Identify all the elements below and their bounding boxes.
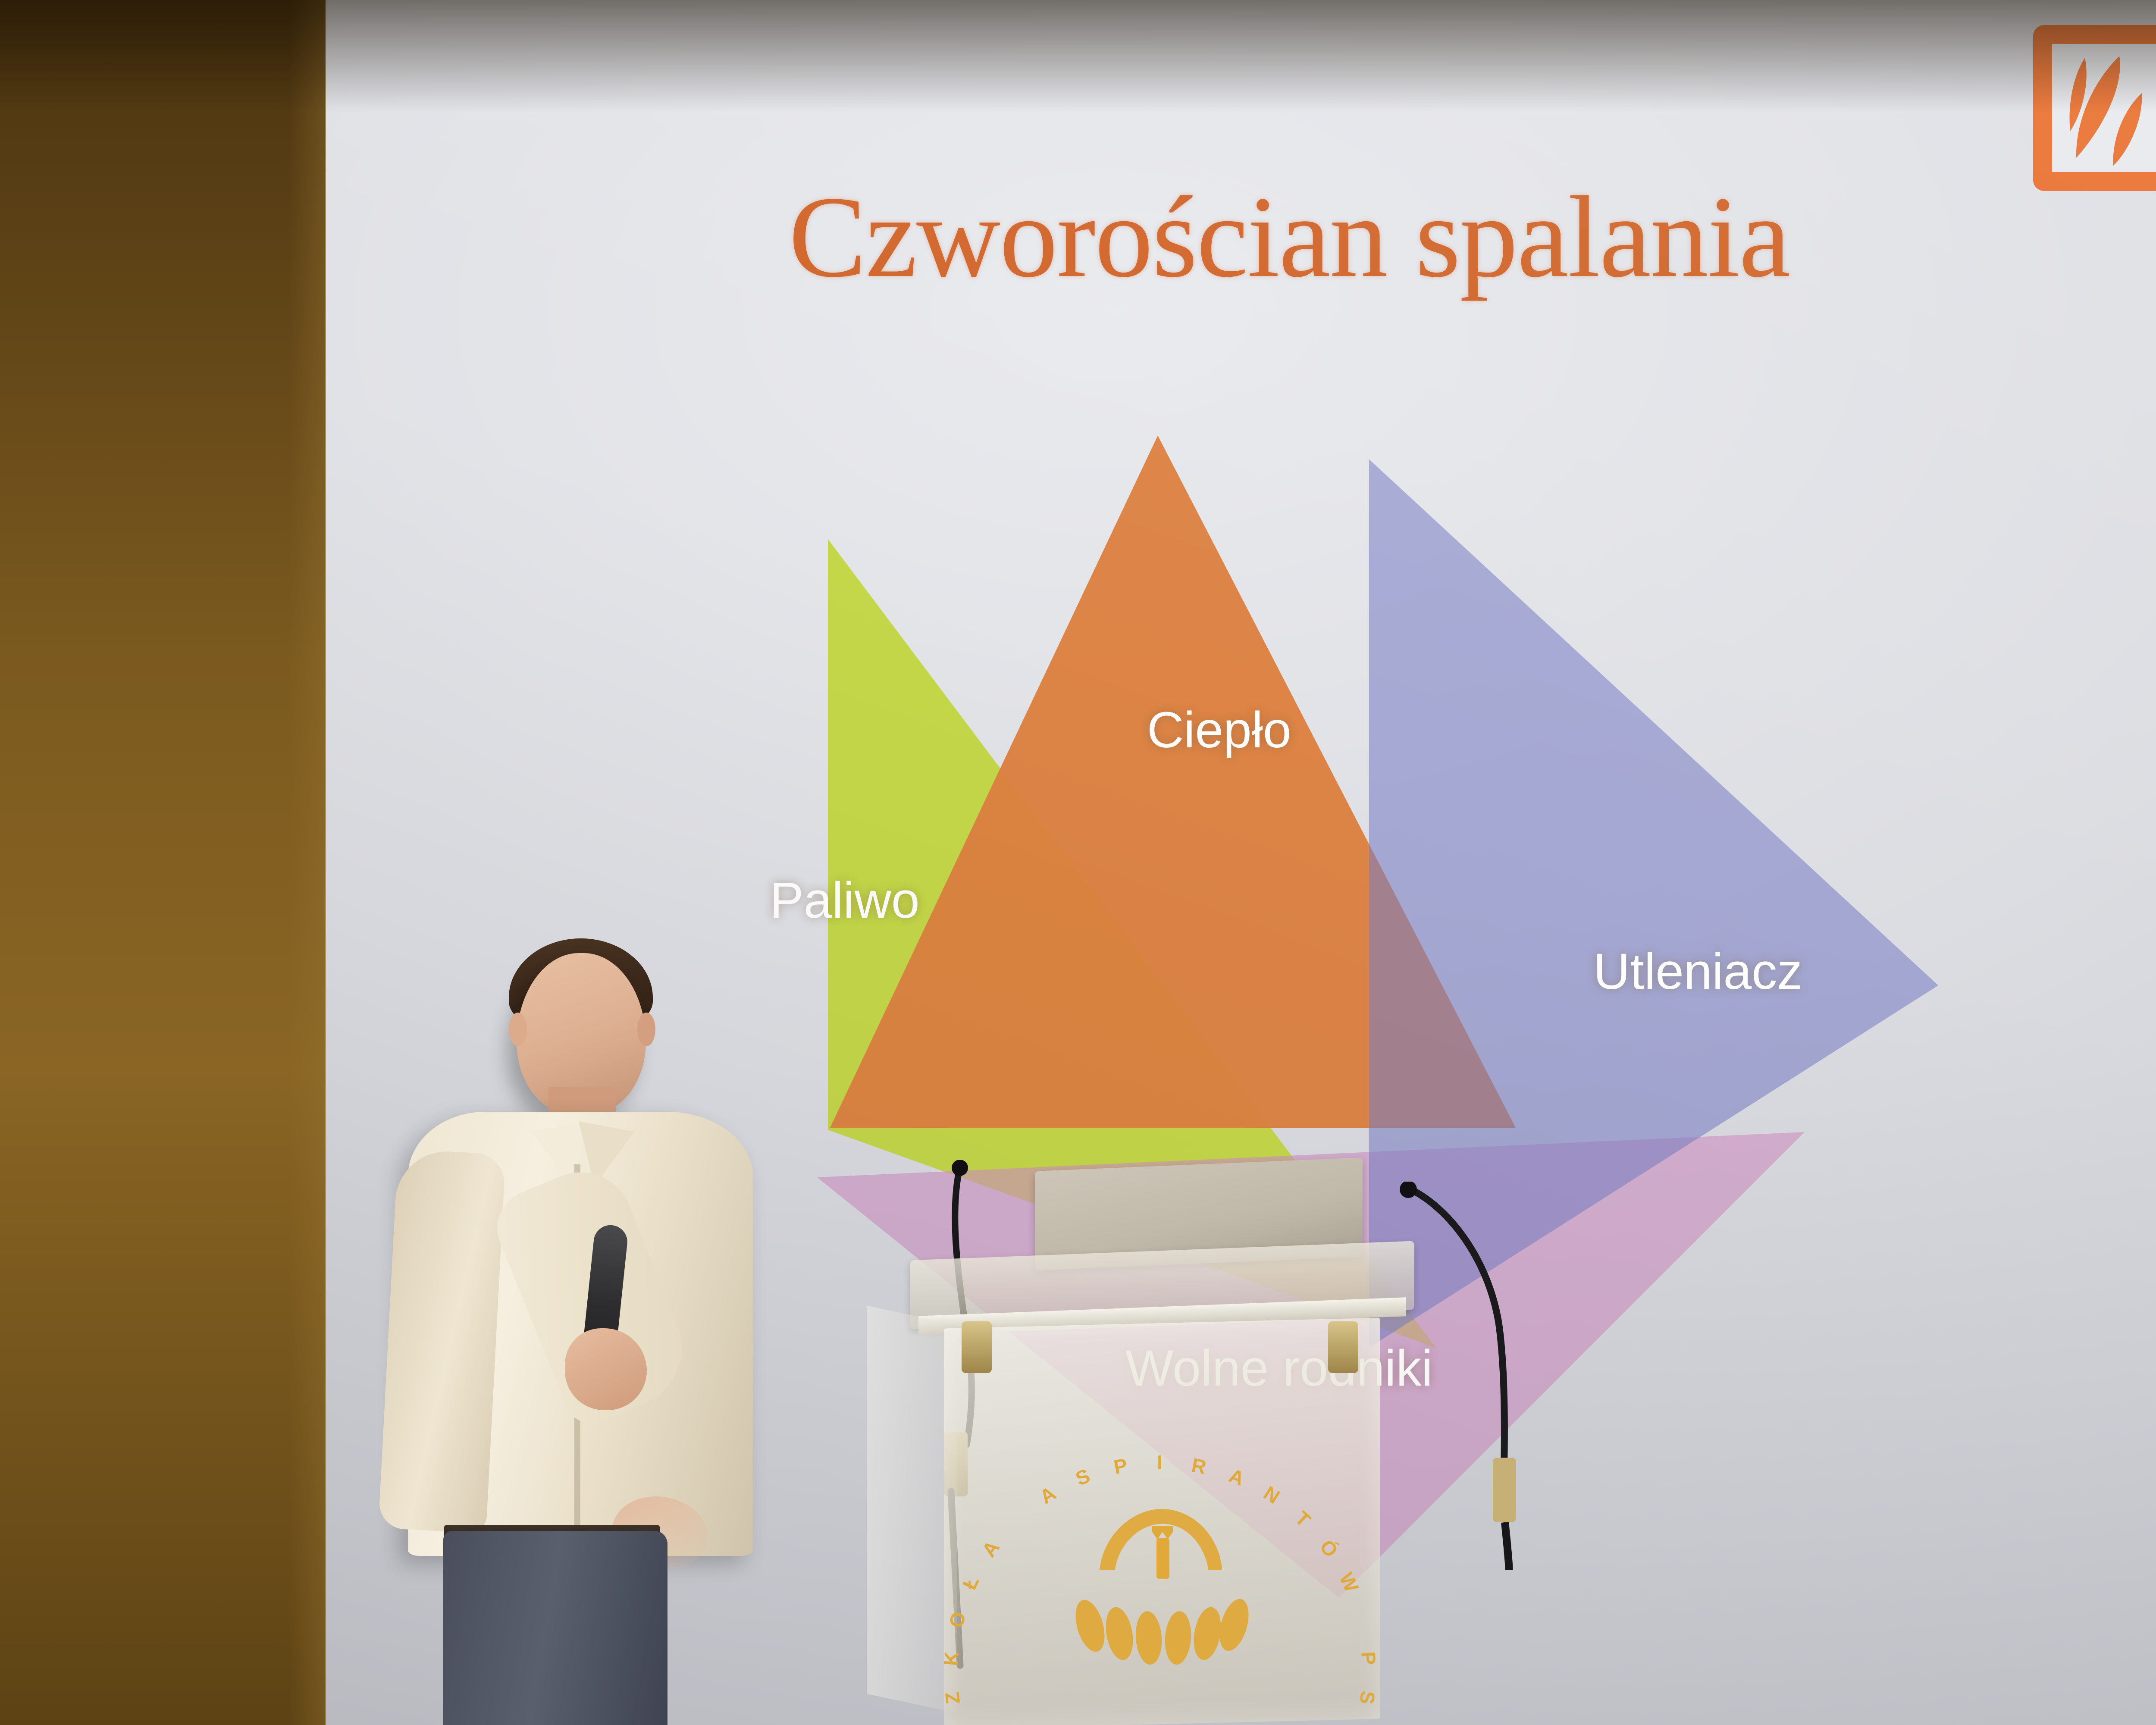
presenter-trousers <box>443 1531 667 1725</box>
screenshot-stage: Koło SITP SUPO® Cerber Czworościan spala… <box>0 0 2156 1725</box>
lectern-emblem-letter: P <box>1112 1453 1129 1479</box>
lectern-emblem-letter: S <box>1355 1690 1380 1706</box>
presenter-ear-right <box>637 1013 655 1046</box>
presenter-ear-left <box>509 1013 527 1046</box>
tetra-label-oxidizer: Utleniacz <box>1593 942 1802 1001</box>
lectern-emblem: SZKOŁA ASPIRANTÓW PSP <box>1039 1440 1281 1682</box>
presenter-hand-holding-mic <box>565 1328 647 1410</box>
lectern-emblem-text: SZKOŁA ASPIRANTÓW PSP <box>1039 1440 1281 1682</box>
wall-left <box>0 0 341 1725</box>
tetra-label-heat: Ciepło <box>1147 701 1291 759</box>
lectern-emblem-letter: R <box>1190 1453 1209 1479</box>
lectern-emblem-letter: A <box>1226 1464 1248 1491</box>
slide-title: Czworościan spalania <box>326 170 2156 304</box>
presenter-arm-left <box>378 1149 506 1534</box>
lectern-knob-left <box>962 1321 992 1373</box>
flame-mark-icon <box>2033 25 2156 191</box>
lectern-emblem-letter: I <box>1157 1451 1163 1474</box>
lectern-emblem-letter: K <box>939 1650 963 1667</box>
lectern: SZKOŁA ASPIRANTÓW PSP <box>893 1289 1432 1725</box>
lectern-emblem-letter: S <box>1072 1464 1094 1490</box>
lectern-emblem-letter: A <box>1035 1481 1060 1509</box>
lectern-emblem-letter: P <box>1357 1651 1381 1666</box>
lectern-knob-right <box>1328 1321 1358 1373</box>
